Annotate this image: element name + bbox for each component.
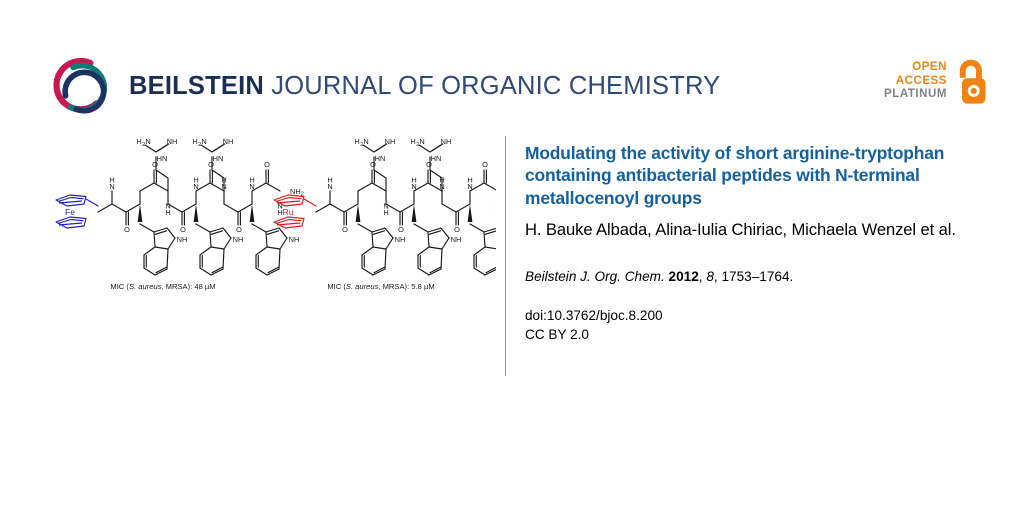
oa-line-open: OPEN [884,61,947,75]
open-access-platinum-badge[interactable]: OPEN ACCESS PLATINUM [884,58,986,105]
right-peptide-backbone: NH2 [316,137,496,275]
article-license[interactable]: CC BY 2.0 [525,325,977,344]
ferrocene-metal-label: Fe [65,207,75,217]
citation-period: . [790,269,794,284]
article-authors: H. Bauke Albada, Alina-Iulia Chiriac, Mi… [525,219,977,241]
content-divider [505,136,506,376]
wordmark-journal-of-organic-chemistry: JOURNAL OF ORGANIC CHEMISTRY [271,72,720,100]
citation-pages: 1753–1764 [721,269,789,284]
masthead: BEILSTEIN JOURNAL OF ORGANIC CHEMISTRY O… [0,0,1024,132]
article-citation: Beilstein J. Org. Chem. 2012, 8, 1753–17… [525,268,977,286]
peptide-structures-diagram: NH NH NH NH NH NH O O O O O O H2N NH H [46,134,496,294]
article-title[interactable]: Modulating the activity of short arginin… [525,142,977,209]
ruthenocene-metal-label: Ru [283,207,294,217]
left-mic-prefix: MIC ( [110,282,129,291]
article-metadata: Modulating the activity of short arginin… [525,142,977,344]
left-mic-value: , MRSA): 48 µM [161,282,215,291]
left-mic-species: S. aureus [129,282,162,291]
journal-wordmark: BEILSTEIN JOURNAL OF ORGANIC CHEMISTRY [129,72,720,100]
left-peptide-backbone: NH2 [98,137,304,275]
open-access-badge-text: OPEN ACCESS PLATINUM [884,61,947,102]
right-mic-species: S. aureus [346,282,379,291]
open-access-lock-icon [954,58,986,105]
left-structure-ferrocenoyl-peptide: Fe NH2 MIC (S. aureus, MRSA): 48 µM [56,137,304,291]
oa-line-platinum: PLATINUM [884,88,947,102]
right-mic-prefix: MIC ( [327,282,346,291]
right-structure-ruthenocenoyl-peptide: Ru NH2 MIC (S. aureus, MRSA): 5.8 µM [274,137,496,291]
citation-volume: 8 [706,269,714,284]
right-mic-caption: MIC (S. aureus, MRSA): 5.8 µM [327,282,434,291]
ferrocene-group: Fe [56,195,98,228]
beilstein-circle-logo-icon [52,55,114,117]
left-mic-caption: MIC (S. aureus, MRSA): 48 µM [110,282,215,291]
citation-journal: Beilstein J. Org. Chem. [525,269,665,284]
oa-line-access: ACCESS [884,75,947,89]
right-mic-value: , MRSA): 5.8 µM [378,282,434,291]
journal-brand-lockup[interactable]: BEILSTEIN JOURNAL OF ORGANIC CHEMISTRY [52,55,720,117]
citation-year: 2012 [669,269,699,284]
article-doi[interactable]: doi:10.3762/bjoc.8.200 [525,306,977,325]
graphical-abstract: NH NH NH NH NH NH O O O O O O H2N NH H [46,134,496,294]
wordmark-beilstein: BEILSTEIN [129,72,264,100]
